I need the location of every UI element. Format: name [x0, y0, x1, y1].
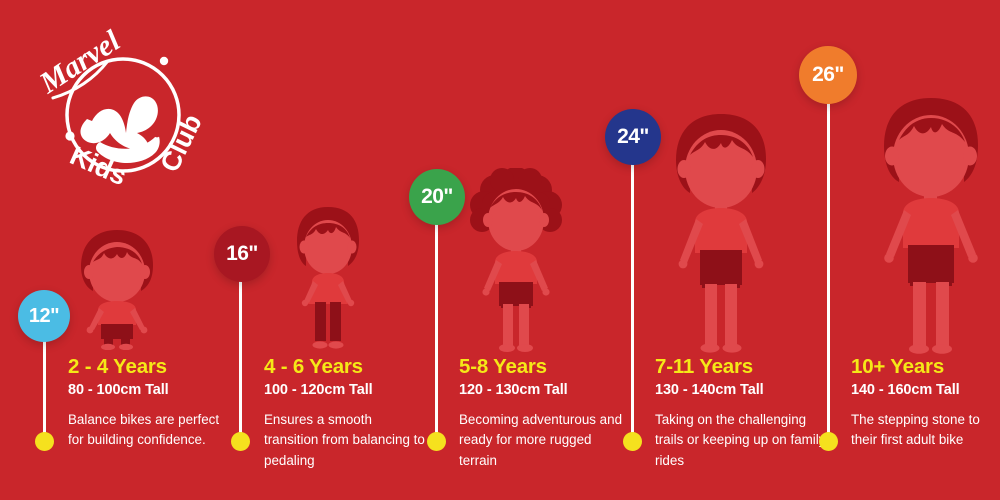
stem-dot-16in	[231, 432, 250, 451]
stage-text-16in: 4 - 6 Years 100 - 120cm Tall Ensures a s…	[264, 357, 426, 471]
size-badge-20in[interactable]: 20"	[409, 169, 465, 225]
height-label-26in: 140 - 160cm Tall	[851, 383, 996, 398]
logo-icon: Marvel Kids Club	[18, 22, 228, 212]
size-badge-24in[interactable]: 24"	[605, 109, 661, 165]
stem-dot-26in	[819, 432, 838, 451]
description-24in: Taking on the challenging trails or keep…	[655, 410, 827, 471]
stem-line-26in	[827, 88, 830, 439]
age-label-26in: 10+ Years	[851, 357, 996, 378]
height-label-24in: 130 - 140cm Tall	[655, 383, 827, 398]
infographic-canvas: Marvel Kids Club 12"	[0, 0, 1000, 500]
stage-text-12in: 2 - 4 Years 80 - 100cm Tall Balance bike…	[68, 357, 223, 451]
age-label-20in: 5-8 Years	[459, 357, 627, 378]
stage-text-24in: 7-11 Years 130 - 140cm Tall Taking on th…	[655, 357, 827, 471]
stage-text-20in: 5-8 Years 120 - 130cm Tall Becoming adve…	[459, 357, 627, 471]
description-16in: Ensures a smooth transition from balanci…	[264, 410, 426, 471]
figure-24in	[656, 112, 786, 355]
stem-dot-12in	[35, 432, 54, 451]
height-label-12in: 80 - 100cm Tall	[68, 383, 223, 398]
stem-dot-20in	[427, 432, 446, 451]
stage-text-26in: 10+ Years 140 - 160cm Tall The stepping …	[851, 357, 996, 451]
height-label-20in: 120 - 130cm Tall	[459, 383, 627, 398]
description-20in: Becoming adventurous and ready for more …	[459, 410, 627, 471]
logo-marvel-text: Marvel	[33, 24, 126, 101]
stem-line-24in	[631, 150, 634, 439]
size-badge-26in[interactable]: 26"	[799, 46, 857, 104]
figure-12in	[63, 228, 171, 350]
figure-16in	[285, 205, 371, 351]
description-12in: Balance bikes are perfect for building c…	[68, 410, 223, 451]
height-label-16in: 100 - 120cm Tall	[264, 383, 426, 398]
stem-line-16in	[239, 268, 242, 439]
age-label-12in: 2 - 4 Years	[68, 357, 223, 378]
size-badge-16in[interactable]: 16"	[214, 226, 270, 282]
logo-club-text: Club	[154, 110, 207, 177]
stem-line-12in	[43, 330, 46, 439]
marvel-kids-club-logo: Marvel Kids Club	[18, 22, 228, 212]
figure-26in	[862, 96, 1000, 355]
stem-line-20in	[435, 210, 438, 439]
description-26in: The stepping stone to their first adult …	[851, 410, 996, 451]
age-label-24in: 7-11 Years	[655, 357, 827, 378]
stem-dot-24in	[623, 432, 642, 451]
age-label-16in: 4 - 6 Years	[264, 357, 426, 378]
figure-20in	[462, 168, 570, 354]
